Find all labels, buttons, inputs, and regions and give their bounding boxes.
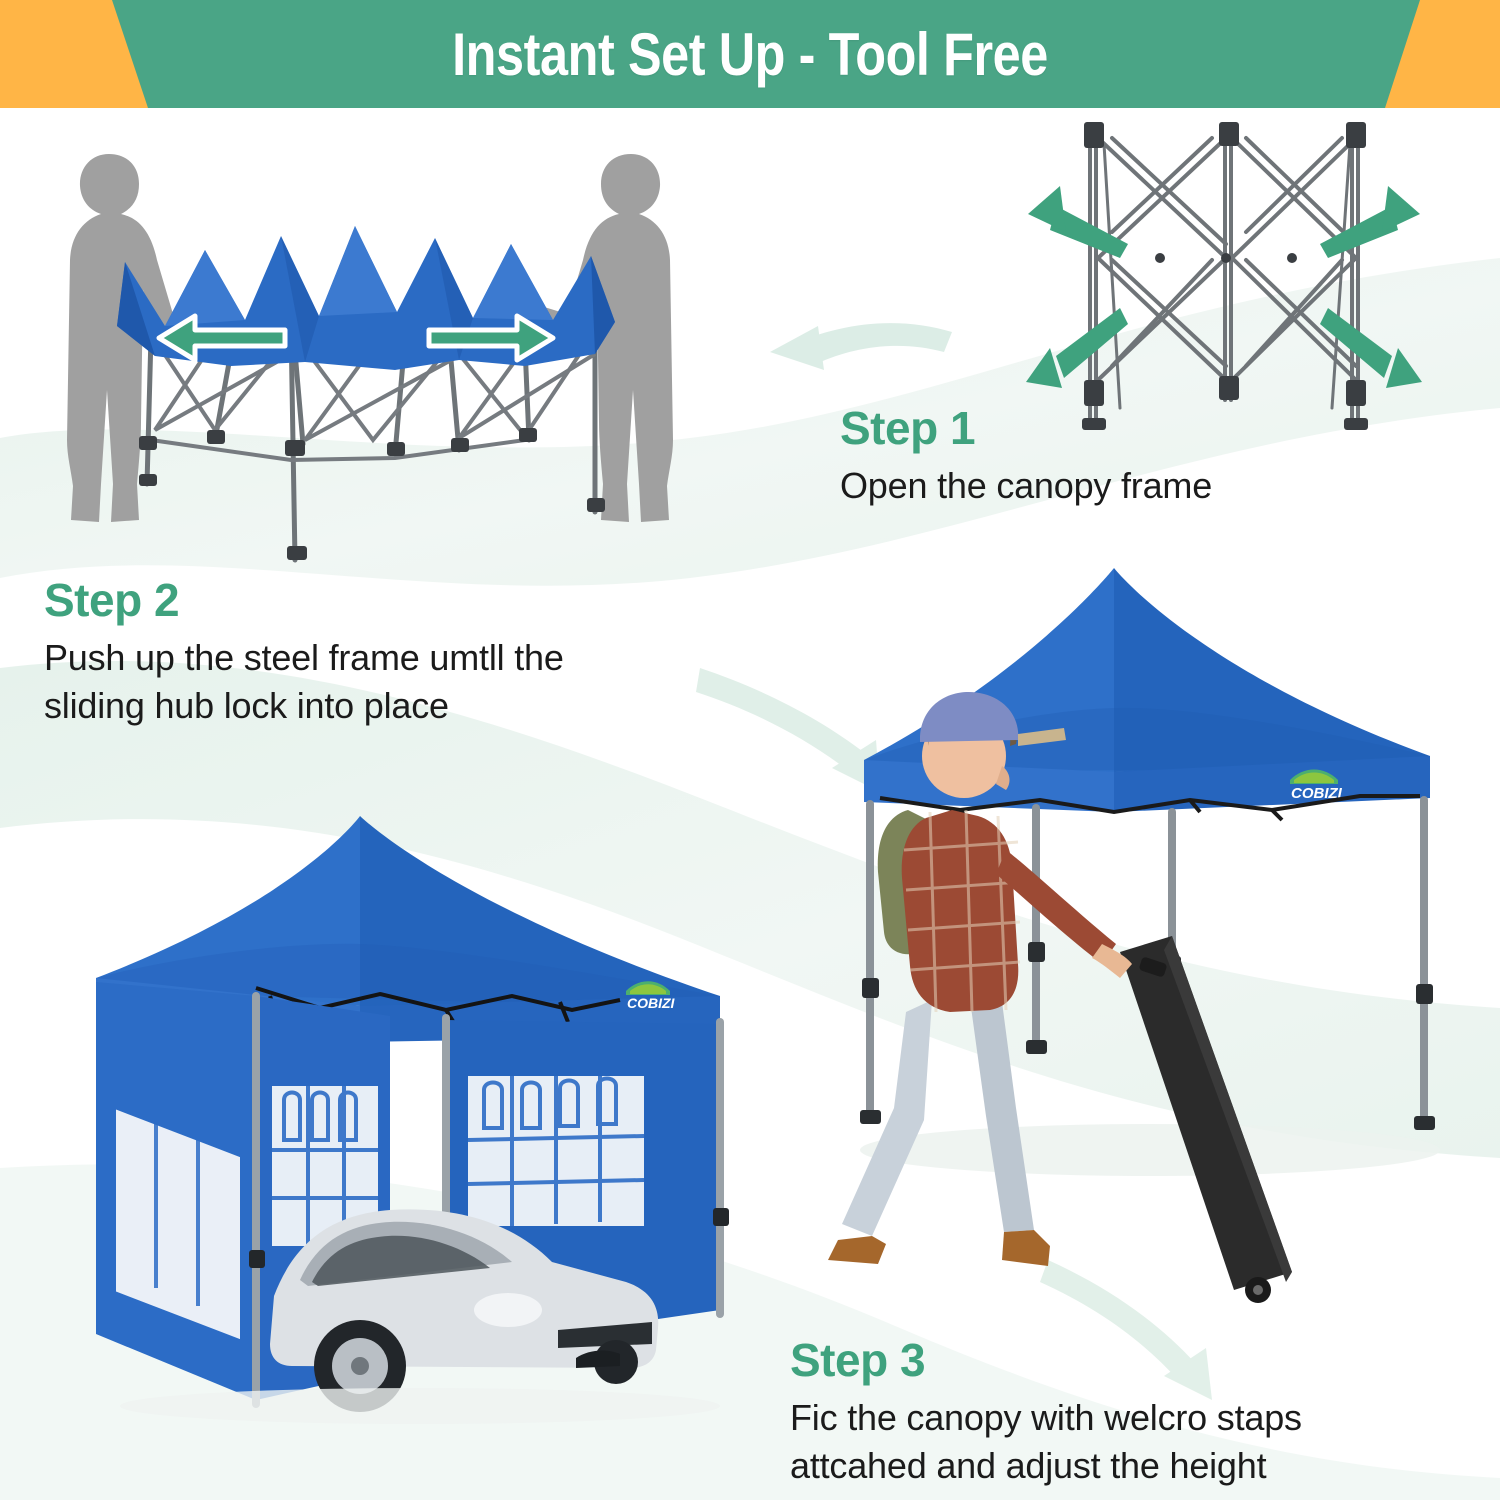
ground-shadow	[120, 1388, 720, 1424]
flow-arrow-icon	[770, 323, 952, 370]
step3-description: Fic the canopy with welcro staps attcahe…	[790, 1394, 1360, 1489]
step3-open-canopy-illustration: COBIZI	[820, 560, 1460, 1350]
step2-label: Step 2	[44, 576, 644, 624]
step1-text-block: Step 1 Open the canopy frame	[840, 404, 1270, 510]
page-title: Instant Set Up - Tool Free	[120, 0, 1380, 108]
step3-label: Step 3	[790, 1336, 1360, 1384]
wheeled-carry-bag	[1120, 936, 1292, 1303]
step1-label: Step 1	[840, 404, 1270, 452]
sidewall-left	[96, 982, 256, 1400]
step3-walled-canopy-illustration: COBIZI	[60, 810, 760, 1430]
car-headlight-icon	[474, 1293, 542, 1327]
step2-text-block: Step 2 Push up the steel frame umtll the…	[44, 576, 644, 729]
ground-shadow	[860, 1124, 1440, 1176]
step1-description: Open the canopy frame	[840, 462, 1270, 510]
step2-description-line2: sliding hub lock into place	[44, 685, 449, 726]
header-banner: Instant Set Up - Tool Free	[0, 0, 1500, 108]
step3-description-line2: attcahed and adjust the height	[790, 1445, 1266, 1486]
step3-description-line1: Fic the canopy with welcro staps	[790, 1397, 1302, 1438]
step2-illustration	[55, 140, 695, 570]
boot-right-icon	[1002, 1230, 1050, 1266]
step2-description-line1: Push up the steel frame umtll the	[44, 637, 564, 678]
jeans-right	[970, 1000, 1034, 1232]
step3-text-block: Step 3 Fic the canopy with welcro staps …	[790, 1336, 1360, 1489]
jeans-left	[842, 1000, 932, 1236]
canopy-roof-walled	[96, 816, 720, 1010]
step1-illustration	[1020, 108, 1450, 448]
boot-left-icon	[828, 1236, 886, 1264]
brand-logo-text: COBIZI	[627, 995, 676, 1011]
step2-description: Push up the steel frame umtll the slidin…	[44, 634, 644, 729]
